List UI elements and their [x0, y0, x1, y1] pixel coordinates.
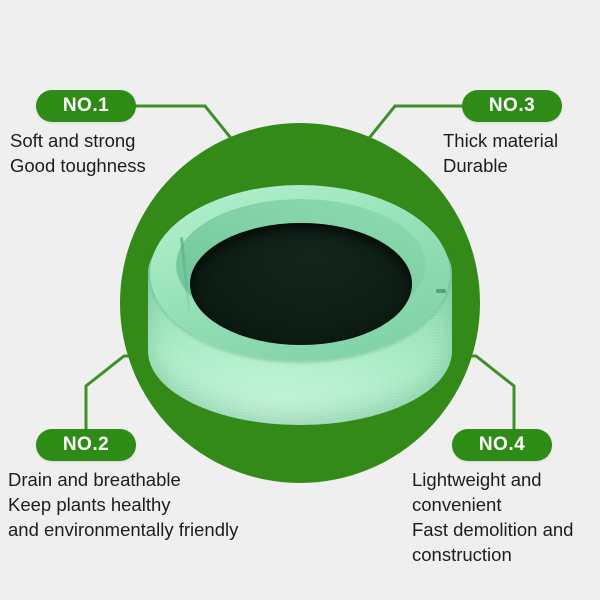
grow-bag-tag [436, 289, 446, 293]
feature-badge-no1: NO.1 [36, 90, 136, 122]
grow-bag-rim [150, 185, 450, 361]
feature-description-no4: Lightweight and convenient Fast demoliti… [412, 467, 600, 567]
feature-description-no3: Thick material Durable [443, 128, 600, 178]
feature-description-no1: Soft and strong Good toughness [10, 128, 240, 178]
feature-description-no2: Drain and breathable Keep plants healthy… [8, 467, 308, 542]
infographic-canvas: NO.1 Soft and strong Good toughness NO.3… [0, 0, 600, 600]
feature-badge-no3: NO.3 [462, 90, 562, 122]
feature-badge-no4: NO.4 [452, 429, 552, 461]
product-image [148, 185, 452, 433]
grow-bag-interior [190, 223, 412, 345]
feature-badge-no2: NO.2 [36, 429, 136, 461]
